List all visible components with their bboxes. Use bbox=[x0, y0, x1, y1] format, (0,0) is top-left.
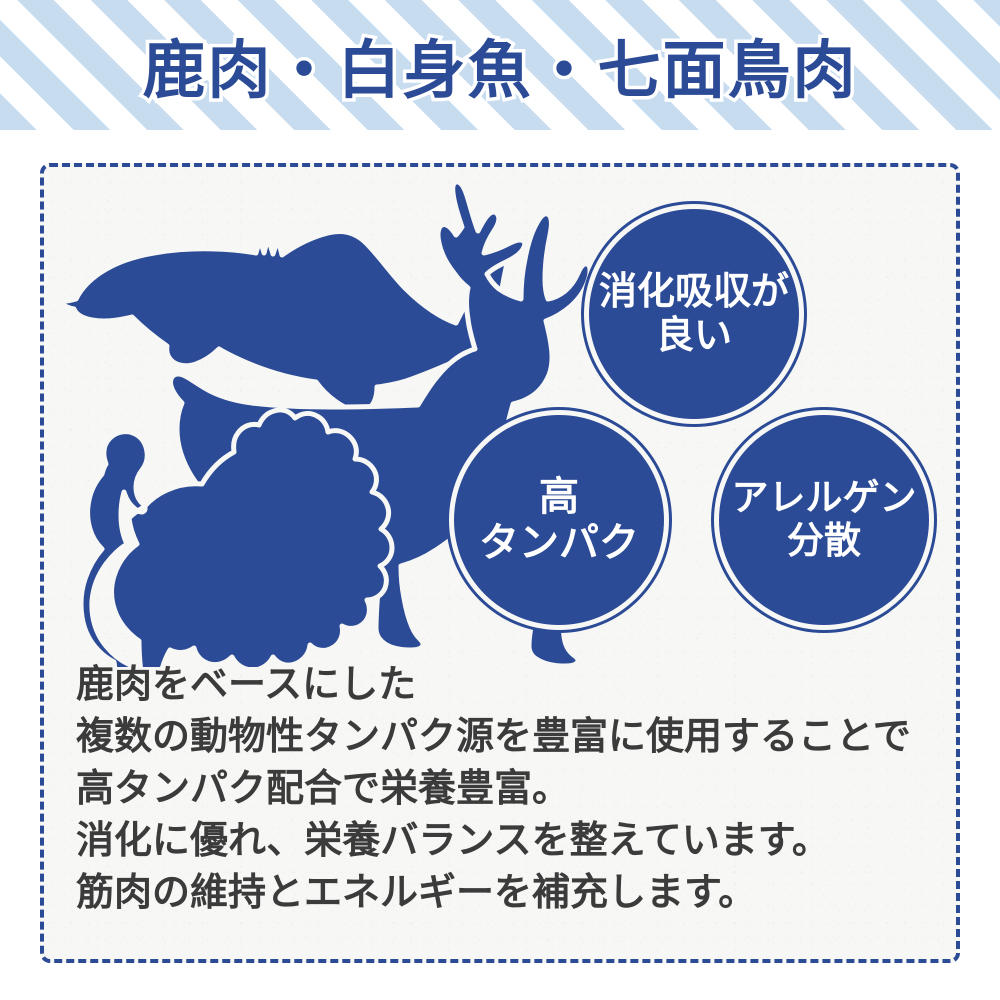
description-line-1: 鹿肉をベースにした bbox=[76, 659, 956, 711]
badge-high-protein[interactable]: 高 タンパク bbox=[454, 415, 664, 625]
description-line-3: 高タンパク配合で栄養豊富。 bbox=[76, 763, 956, 815]
description-line-4: 消化に優れ、栄養バランスを整えています。 bbox=[76, 815, 956, 867]
badge-allergen-line-2: 分散 bbox=[787, 520, 861, 563]
turkey-silhouette bbox=[81, 410, 392, 667]
badge-high-protein-line-2: タンパク bbox=[479, 520, 639, 566]
badge-allergen[interactable]: アレルゲン 分散 bbox=[719, 415, 929, 625]
badge-digestion-line-2: 良い bbox=[656, 314, 732, 358]
description-line-2: 複数の動物性タンパク源を豊富に使用することで bbox=[76, 711, 956, 763]
description-line-5: 筋肉の維持とエネルギーを補充します。 bbox=[76, 867, 956, 919]
badge-allergen-line-1: アレルゲン bbox=[732, 477, 917, 520]
promo-graphic-page: 鹿肉・白身魚・七面鳥肉 消化吸収が 良 bbox=[0, 0, 1000, 1000]
description-text-block: 鹿肉をベースにした 複数の動物性タンパク源を豊富に使用することで 高タンパク配合… bbox=[76, 659, 956, 919]
header-stripe-band: 鹿肉・白身魚・七面鳥肉 bbox=[0, 0, 1000, 130]
badge-digestion[interactable]: 消化吸収が 良い bbox=[589, 209, 799, 419]
page-title: 鹿肉・白身魚・七面鳥肉 bbox=[0, 0, 1000, 130]
dashed-content-panel: 消化吸収が 良い 高 タンパク アレルゲン 分散 鹿肉をベースにした 複数の動物… bbox=[40, 163, 960, 963]
badge-digestion-line-1: 消化吸収が bbox=[599, 270, 789, 314]
badge-high-protein-line-1: 高 bbox=[539, 474, 579, 520]
